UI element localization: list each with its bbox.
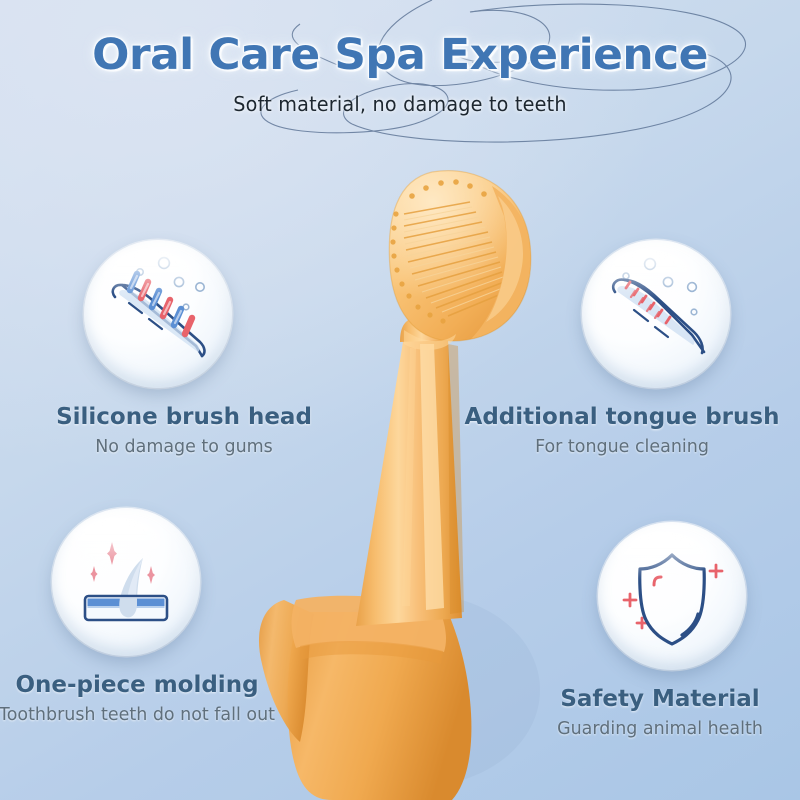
feature-title: Additional tongue brush <box>452 404 792 430</box>
feature-subtitle: Toothbrush teeth do not fall out <box>0 704 278 725</box>
feature-title: Safety Material <box>520 686 800 712</box>
tongue-brush-icon <box>582 240 730 388</box>
shield-icon <box>598 522 746 670</box>
feature-icon-badge <box>598 522 746 670</box>
feature-safety-material[interactable]: Safety Material Guarding animal health <box>520 522 800 739</box>
feature-title: Silicone brush head <box>24 404 344 430</box>
feature-icon-badge <box>84 240 232 388</box>
page-subtitle: Soft material, no damage to teeth <box>16 92 784 116</box>
infographic-canvas: Oral Care Spa Experience Soft material, … <box>0 0 800 800</box>
header: Oral Care Spa Experience Soft material, … <box>0 34 800 116</box>
feature-subtitle: For tongue cleaning <box>457 436 787 457</box>
feature-additional-tongue-brush[interactable]: Additional tongue brush For tongue clean… <box>452 240 792 457</box>
toothbrush-bristles-icon <box>84 240 232 388</box>
page-title: Oral Care Spa Experience <box>0 34 800 77</box>
feature-icon-badge <box>582 240 730 388</box>
feature-silicone-brush-head[interactable]: Silicone brush head No damage to gums <box>24 240 344 457</box>
feature-icon-badge <box>52 508 200 656</box>
feature-subtitle: Guarding animal health <box>524 718 796 739</box>
one-piece-mold-icon <box>52 508 200 656</box>
feature-title: One-piece molding <box>0 672 282 698</box>
feature-one-piece-molding[interactable]: One-piece molding Toothbrush teeth do no… <box>0 508 282 725</box>
feature-subtitle: No damage to gums <box>29 436 339 457</box>
